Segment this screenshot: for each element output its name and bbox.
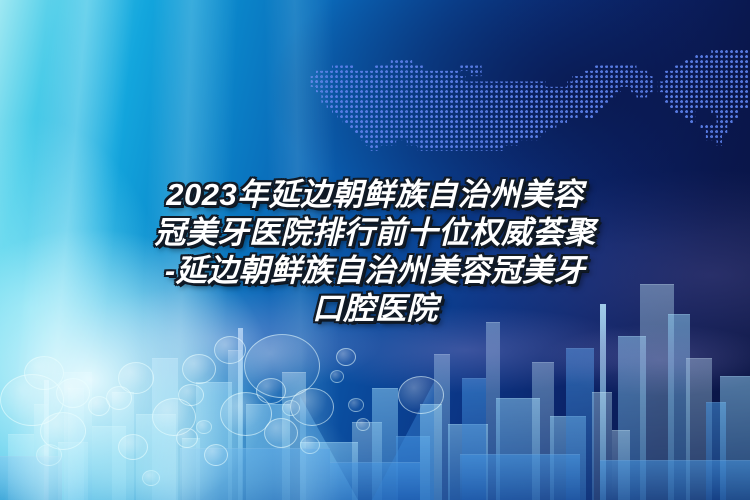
bubble xyxy=(290,388,334,426)
title-line-1: 2023年延边朝鲜族自治州美容 xyxy=(0,176,750,214)
bubble xyxy=(176,428,198,448)
bubble xyxy=(256,378,286,404)
title-line-3: -延边朝鲜族自治州美容冠美牙 xyxy=(0,252,750,290)
bubble xyxy=(56,378,90,408)
banner-image: 2023年延边朝鲜族自治州美容 冠美牙医院排行前十位权威荟聚 -延边朝鲜族自治州… xyxy=(0,0,750,500)
bubble xyxy=(36,444,62,466)
title-line-4: 口腔医院 xyxy=(0,290,750,328)
title-line-2: 冠美牙医院排行前十位权威荟聚 xyxy=(0,214,750,252)
bubble xyxy=(330,370,344,383)
bubble xyxy=(142,470,160,486)
bubble xyxy=(300,436,320,454)
bubble xyxy=(264,418,298,448)
bubble xyxy=(178,384,204,406)
bubble xyxy=(214,336,246,364)
bubble xyxy=(204,444,228,466)
bubble xyxy=(348,398,364,412)
bubble xyxy=(106,386,132,410)
bubble xyxy=(356,418,370,431)
bubble xyxy=(398,376,444,414)
banner-title: 2023年延边朝鲜族自治州美容 冠美牙医院排行前十位权威荟聚 -延边朝鲜族自治州… xyxy=(0,176,750,328)
bubble xyxy=(118,434,148,460)
bubble xyxy=(196,420,212,434)
bubble xyxy=(182,354,216,384)
bubble xyxy=(336,348,356,366)
